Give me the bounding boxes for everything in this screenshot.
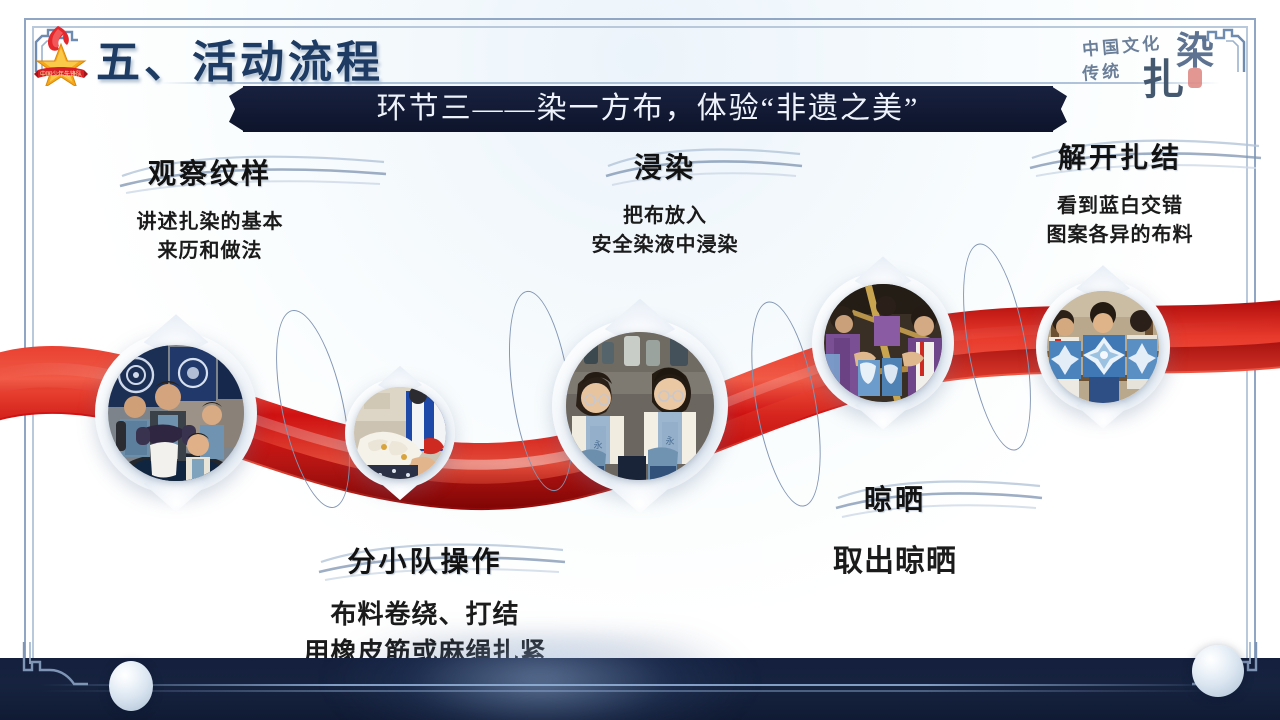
svg-text:永: 永 <box>665 435 674 446</box>
brand-big-zha: 扎 <box>1142 46 1184 107</box>
step-desc-line: 取出晾晒 <box>770 540 1020 584</box>
step-desc-line: 讲述扎染的基本 <box>60 208 360 237</box>
step-title: 解开扎结 <box>1058 143 1182 174</box>
step-desc-line: 把布放入 <box>520 202 810 231</box>
china-youth-pioneer-emblem: 中国少年先锋队 <box>28 20 94 86</box>
step-desc-line: 布料卷绕、打结 <box>260 596 590 634</box>
brand-seal <box>1188 68 1202 88</box>
photo-immersing: 永 永 <box>566 332 714 480</box>
step-title: 分小队操作 <box>347 547 502 578</box>
photo-tying-fabric <box>354 387 446 479</box>
step-desc-line: 看到蓝白交错 <box>975 192 1265 221</box>
photo-dyeing-workshop <box>108 345 244 481</box>
page-title: 五、活动流程 <box>96 26 384 90</box>
step-title: 晾晒 <box>864 485 926 516</box>
photo-bubble-untie[interactable] <box>1036 280 1170 414</box>
step-desc: 取出晾晒 <box>770 540 1020 584</box>
step-desc: 讲述扎染的基本 来历和做法 <box>60 208 360 266</box>
section-banner-text: 环节三——染一方布，体验“非遗之美” <box>243 86 1053 132</box>
corner-ornament-bottom-left <box>18 640 88 702</box>
step-desc: 看到蓝白交错 图案各异的布料 <box>975 192 1265 250</box>
header-divider <box>160 82 1220 84</box>
photo-bubble-observe[interactable] <box>95 332 257 494</box>
slide-canvas: 中国少年先锋队 五、活动流程 中国文化 传统 染 扎 环节三——染一方布，体验“… <box>0 0 1280 720</box>
pearl-decoration-left <box>109 661 153 711</box>
photo-bubble-dye[interactable]: 永 永 <box>552 318 728 494</box>
photo-unfolding <box>1047 291 1159 403</box>
section-banner: 环节三——染一方布，体验“非遗之美” <box>243 86 1053 132</box>
svg-text:中国少年先锋队: 中国少年先锋队 <box>40 70 82 78</box>
frame-line-right <box>1254 18 1256 702</box>
brand-line2: 传统 <box>1081 56 1123 84</box>
bottom-bar-glow <box>330 632 750 720</box>
step-title-wrap: 晾晒 <box>850 478 940 524</box>
step-title-wrap: 分小队操作 <box>333 540 516 586</box>
photo-hanging <box>824 284 942 402</box>
step-desc: 把布放入 安全染液中浸染 <box>520 202 810 260</box>
brand-logo: 中国文化 传统 染 扎 <box>1080 18 1232 94</box>
step-observe: 观察纹样 讲述扎染的基本 来历和做法 <box>60 152 360 266</box>
step-desc-line: 安全染液中浸染 <box>520 231 810 260</box>
bottom-bar <box>0 658 1280 720</box>
step-untie: 解开扎结 看到蓝白交错 图案各异的布料 <box>975 136 1265 250</box>
step-title-wrap: 浸染 <box>620 146 710 192</box>
ring-decoration-4 <box>950 239 1044 456</box>
step-desc-line: 来历和做法 <box>60 237 360 266</box>
frame-line-right-inner <box>1246 26 1248 694</box>
step-title: 浸染 <box>634 153 696 184</box>
step-title: 观察纹样 <box>148 159 272 190</box>
pearl-decoration-right <box>1192 645 1244 697</box>
svg-text:永: 永 <box>593 439 602 450</box>
bottom-bar-line-1 <box>40 684 1220 686</box>
frame-line-left-inner <box>32 26 34 694</box>
photo-bubble-dry[interactable] <box>812 272 954 414</box>
bottom-bar-line-2 <box>40 690 1220 692</box>
step-desc-line: 图案各异的布料 <box>975 221 1265 250</box>
step-title-wrap: 解开扎结 <box>1044 136 1196 182</box>
step-dry: 晾晒 取出晾晒 <box>770 478 1020 584</box>
step-title-wrap: 观察纹样 <box>134 152 286 198</box>
frame-line-left <box>24 18 26 702</box>
step-dye: 浸染 把布放入 安全染液中浸染 <box>520 146 810 260</box>
frame-line-top <box>24 18 1256 20</box>
photo-bubble-team[interactable] <box>345 378 455 488</box>
